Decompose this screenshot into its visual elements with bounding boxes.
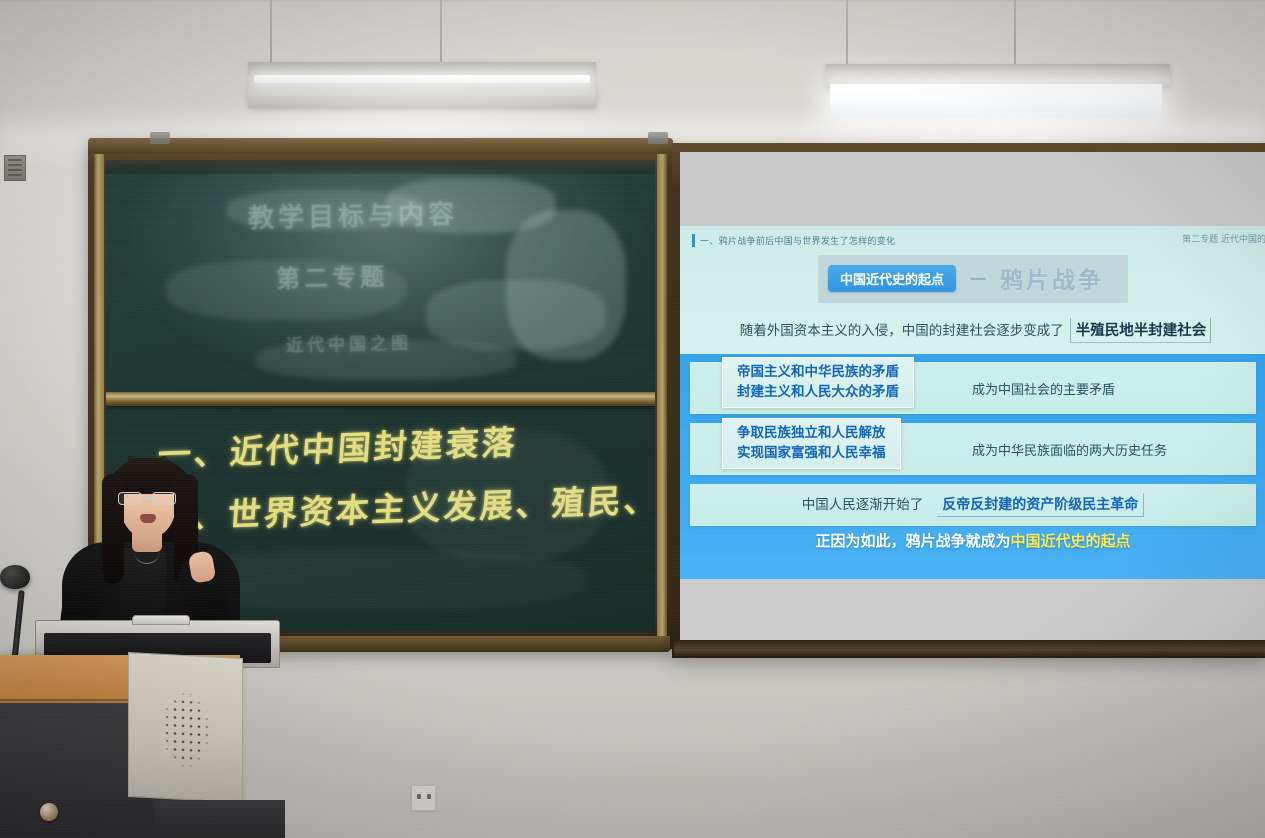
projection-screen-surface: 一、鸦片战争前后中国与世界发生了怎样的变化 第二专题 近代中国的 中国近代史的起… [680,152,1265,640]
slide-conclusion-highlight: 中国近代史的起点 [1011,532,1131,550]
slide-row: 争取民族独立和人民解放 实现国家富强和人民幸福 成为中华民族面临的两大历史任务 [690,423,1256,475]
blackboard-ghost-line-3: 近代中国之图 [286,329,412,357]
podium-base [155,800,285,838]
slide-row: 帝国主义和中华民族的矛盾 封建主义和人民大众的矛盾 成为中国社会的主要矛盾 [690,362,1256,414]
socket-hole-left [417,794,421,799]
projection-screen-frame: 一、鸦片战争前后中国与世界发生了怎样的变化 第二专题 近代中国的 中国近代史的起… [672,143,1265,658]
board-top-strip [106,160,655,174]
slide-rows: 帝国主义和中华民族的矛盾 封建主义和人民大众的矛盾 成为中国社会的主要矛盾 争取… [690,362,1256,535]
blackboard-ghost-line-1: 教学目标与内容 [248,194,459,235]
header-tick-icon [692,234,695,247]
slide-row-left-line-2: 封建主义和人民大众的矛盾 [737,382,899,402]
speaker-perforation [155,680,217,779]
slide-lead-row: 随着外国资本主义的入侵，中国的封建社会逐步变成了 半殖民地半封建社会 [697,318,1254,343]
glasses-icon [118,492,178,506]
eye-right [161,456,167,460]
ceiling-lamp-right [826,0,1172,120]
slide-row-left-line-2: 实现国家富强和人民幸福 [737,443,886,463]
console-handle[interactable] [132,615,190,625]
ceiling-lamp-left [248,0,598,110]
socket-hole-right [427,794,431,799]
slide-title-row: 中国近代史的起点 一 鸦片战争 [680,255,1265,303]
hair-front [116,458,182,494]
blackboard-ghost-line-2: 第二专题 [276,257,389,294]
board-bracket [648,132,668,144]
screen-bottom-rail [674,640,1265,658]
slide-row-left-box: 争取民族独立和人民解放 实现国家富强和人民幸福 [722,418,901,469]
board-divider-rail [106,392,655,406]
lamp-rod [270,0,272,64]
slide-header-right-text: 第二专题 近代中国的 [1182,232,1265,245]
slide-title-number: 一 [970,266,986,290]
slide-lead-text: 随着外国资本主义的入侵，中国的封建社会逐步变成了 [740,319,1064,339]
board-trim-right [657,154,667,640]
slide-row-right-text: 成为中华民族面临的两大历史任务 [972,440,1167,459]
slide-title-plate: 中国近代史的起点 一 鸦片战争 [818,255,1128,303]
glasses-bridge [142,497,152,499]
slide-row-left-line-1: 争取民族独立和人民解放 [737,423,886,443]
slide-lead-highlight: 半殖民地半封建社会 [1070,318,1212,343]
presentation-slide: 一、鸦片战争前后中国与世界发生了怎样的变化 第二专题 近代中国的 中国近代史的起… [680,226,1265,579]
slide-conclusion: 正因为如此，鸦片战争就成为中国近代史的起点 [680,530,1265,551]
hair-left [102,474,124,584]
board-bracket [150,132,170,144]
slide-row-single-highlight: 反帝反封建的资产阶级民主革命 [937,493,1144,517]
lamp-rod [846,0,848,66]
slide-row-left-box: 帝国主义和中华民族的矛盾 封建主义和人民大众的矛盾 [722,357,914,408]
lamp-rod [1014,0,1016,66]
slide-title-main: 鸦片战争 [1000,261,1104,295]
microphone-head-icon [0,565,30,589]
slide-title-badge: 中国近代史的起点 [828,265,956,292]
chalk-smear [406,430,606,560]
slide-row-single-inline: 中国人民逐渐开始了 反帝反封建的资产阶级民主革命 [690,493,1256,517]
eye-left [127,456,133,460]
glasses-lens-right [152,492,176,505]
glasses-lens-left [118,492,142,505]
podium-lock-knob[interactable] [40,803,58,821]
slide-row-right-text: 成为中国社会的主要矛盾 [972,379,1115,398]
slide-row-left-line-1: 帝国主义和中华民族的矛盾 [737,362,899,382]
lamp-housing [248,62,596,108]
slide-header-left: 一、鸦片战争前后中国与世界发生了怎样的变化 [692,232,895,248]
lamp-tube [254,75,590,83]
classroom-photo: 教学目标与内容 第二专题 近代中国之图 一、近代中国封建衰落 二、世界资本主义发… [0,0,1265,838]
mouth [140,514,156,523]
wall-power-socket[interactable] [411,785,436,811]
chalk-smear [506,210,626,360]
slide-header-left-text: 一、鸦片战争前后中国与世界发生了怎样的变化 [700,234,895,247]
slide-conclusion-plain: 正因为如此，鸦片战争就成为 [815,532,1010,550]
slide-row-single-plain: 中国人民逐渐开始了 [802,493,924,513]
lamp-diffuser [830,84,1162,118]
wall-notice-plate [4,155,26,181]
lamp-rod [440,0,442,64]
speaker-grille [128,652,243,803]
slide-row-single: 中国人民逐渐开始了 反帝反封建的资产阶级民主革命 [690,484,1256,526]
